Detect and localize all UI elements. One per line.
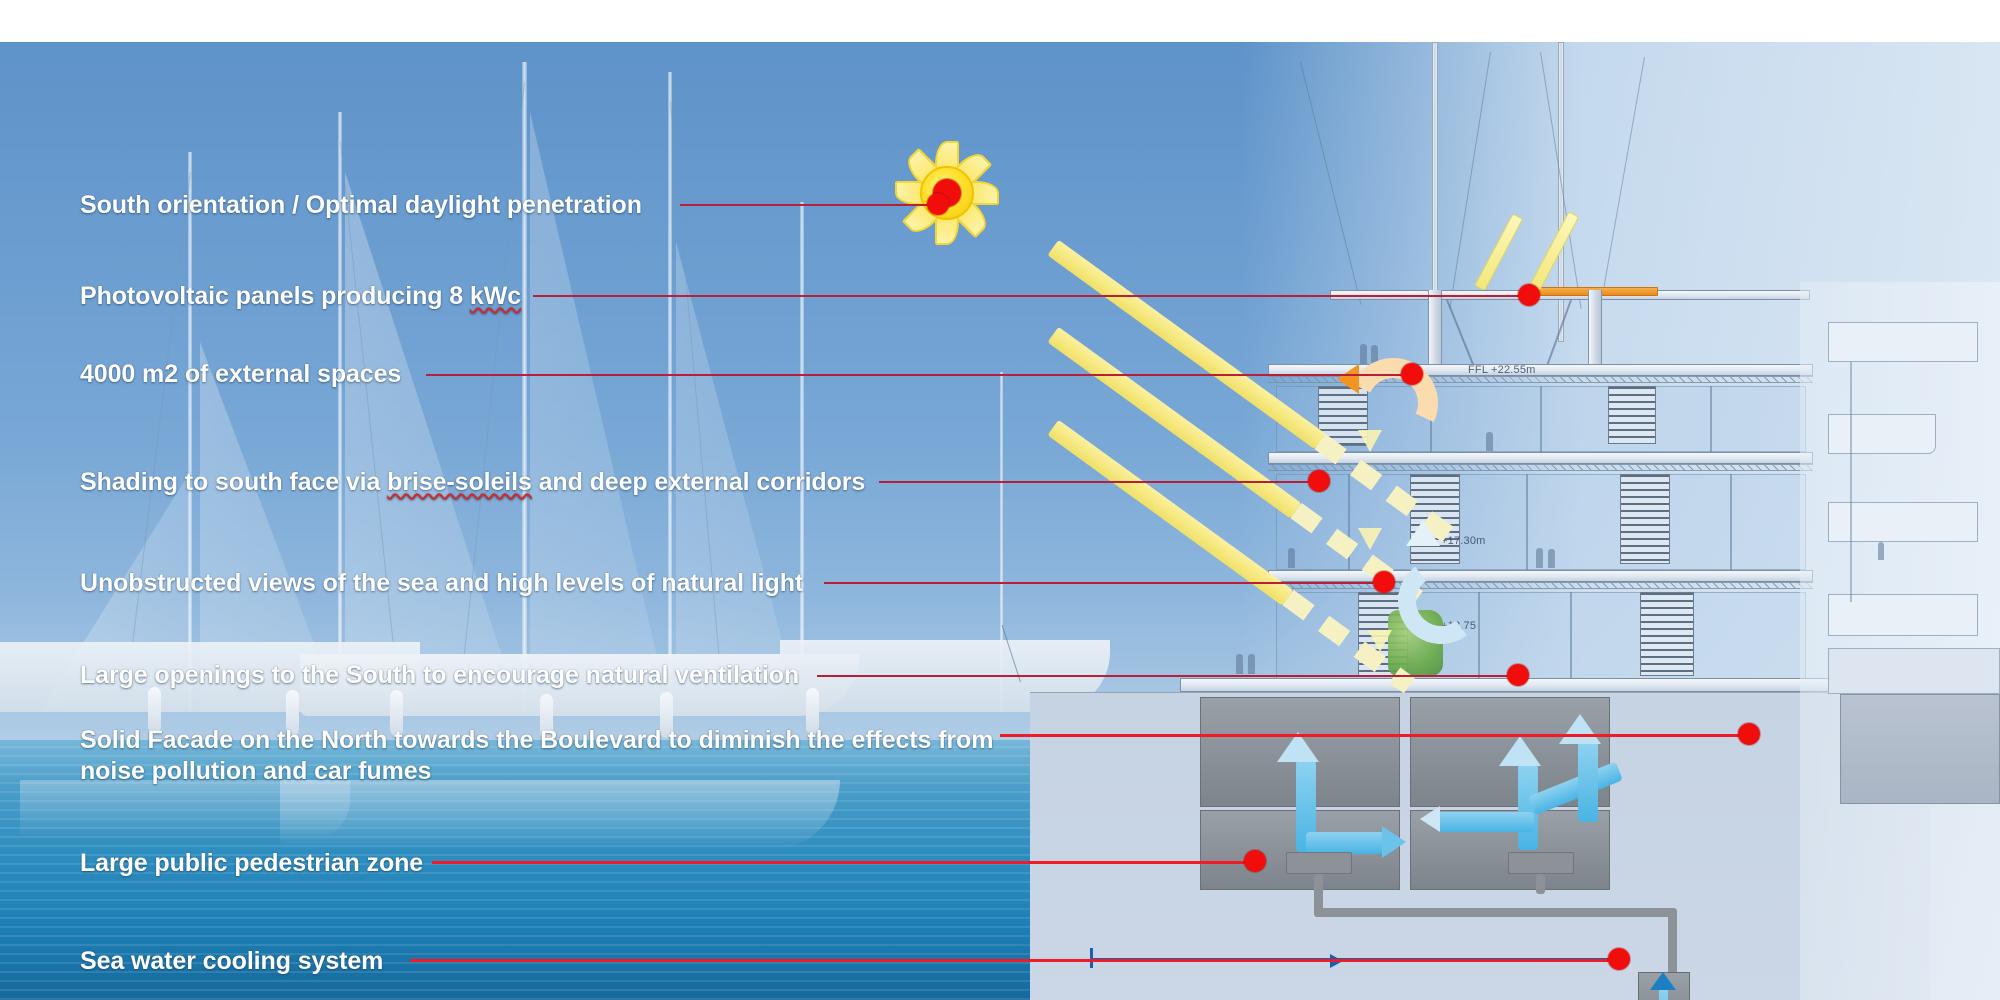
- leader-line-natural-ventilation-openings: [817, 675, 1512, 677]
- anchor-dot-external-spaces: [1401, 363, 1423, 385]
- anchor-dot-south-orientation: [927, 193, 949, 215]
- brise-soleil-louvre: [1608, 386, 1656, 444]
- leader-line-sea-water-cooling: [410, 959, 1617, 962]
- anchor-dot-sea-water-cooling: [1608, 948, 1630, 970]
- anchor-dot-sea-views-natural-light: [1373, 571, 1395, 593]
- leader-line-brise-soleil-shading: [879, 481, 1319, 483]
- label-external-spaces: 4000 m2 of external spaces: [80, 359, 401, 390]
- supply-grille-right: [1508, 852, 1574, 874]
- anchor-dot-natural-ventilation-openings: [1507, 664, 1529, 686]
- label-sea-water-cooling: Sea water cooling system: [80, 946, 383, 977]
- leader-line-public-pedestrian-zone: [432, 861, 1254, 864]
- label-natural-ventilation-openings: Large openings to the South to encourage…: [80, 660, 799, 691]
- warm-air-arrowhead: [1337, 364, 1359, 394]
- label-sea-views-natural-light: Unobstructed views of the sea and high l…: [80, 568, 803, 599]
- anchor-dot-photovoltaic-panels: [1518, 284, 1540, 306]
- anchor-dot-solid-north-facade: [1738, 723, 1760, 745]
- level-2-slab: [1268, 570, 1813, 582]
- level-note-l4: FFL +22.55m: [1468, 364, 1536, 376]
- top-white-margin: [0, 0, 2000, 42]
- leader-line-photovoltaic-panels: [533, 295, 1528, 297]
- building-section-drawing: FFL +22.55m FFL +17.30m FFL +13.75: [1240, 42, 2000, 1000]
- spellcheck-underline: brise-soleils: [387, 468, 532, 496]
- label-solid-north-facade: Solid Facade on the North towards the Bo…: [80, 725, 993, 787]
- leader-line-sea-views-natural-light: [824, 582, 1384, 584]
- spellcheck-underline: kWc: [470, 282, 521, 310]
- sun-icon: [892, 138, 1002, 248]
- brise-soleil-louvre: [1640, 592, 1694, 676]
- anchor-dot-brise-soleil-shading: [1308, 470, 1330, 492]
- leader-line-solid-north-facade: [1000, 734, 1754, 737]
- supply-grille-left: [1286, 852, 1352, 874]
- brise-soleil-louvre: [1620, 474, 1670, 564]
- label-public-pedestrian-zone: Large public pedestrian zone: [80, 848, 423, 879]
- label-south-orientation: South orientation / Optimal daylight pen…: [80, 190, 642, 221]
- leader-line-south-orientation: [680, 204, 940, 206]
- anchor-dot-public-pedestrian-zone: [1244, 850, 1266, 872]
- label-brise-soleil-shading: Shading to south face via brise-soleils …: [80, 467, 865, 498]
- label-photovoltaic-panels: Photovoltaic panels producing 8 kWc: [80, 281, 521, 312]
- diagram-canvas: FFL +22.55m FFL +17.30m FFL +13.75: [0, 0, 2000, 1000]
- leader-line-external-spaces: [426, 374, 1411, 376]
